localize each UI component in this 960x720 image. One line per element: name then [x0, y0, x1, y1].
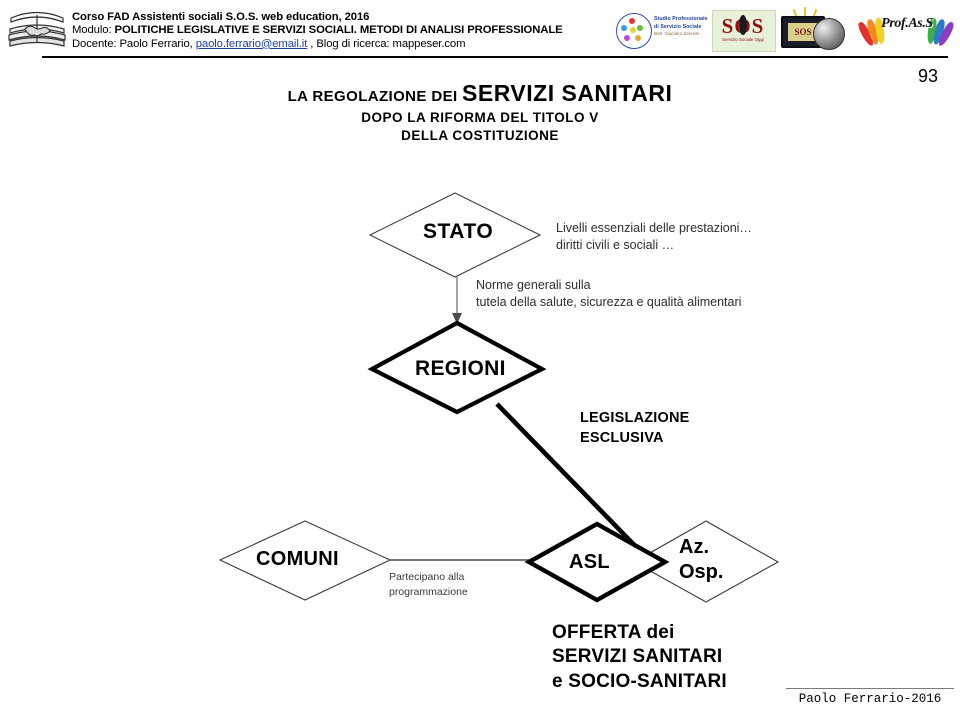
- partecipano-line-1: Partecipano alla: [389, 571, 464, 583]
- annotation-legislazione-esclusiva: LEGISLAZIONE ESCLUSIVA: [580, 408, 690, 448]
- node-label-comuni: COMUNI: [256, 548, 339, 571]
- node-label-asl: ASL: [569, 551, 610, 574]
- offerta-line-2: SERVIZI SANITARI: [552, 646, 722, 667]
- annotation-livelli-essenziali: Livelli essenziali delle prestazioni… di…: [556, 220, 752, 254]
- norme-line-1: Norme generali sulla: [476, 278, 591, 292]
- azosp-label-line-1: Az.: [679, 536, 709, 558]
- norme-line-2: tutela della salute, sicurezza e qualità…: [476, 295, 741, 309]
- legislazione-line-1: LEGISLAZIONE: [580, 410, 690, 426]
- livelli-line-2: diritti civili e sociali …: [556, 238, 674, 252]
- legislazione-line-2: ESCLUSIVA: [580, 430, 664, 446]
- slide-canvas: Corso FAD Assistenti sociali S.O.S. web …: [0, 0, 960, 720]
- node-label-azienda-ospedaliera: Az. Osp.: [679, 535, 723, 585]
- slide-footer: Paolo Ferrario-2016: [786, 688, 954, 706]
- offerta-line-3: e SOCIO-SANITARI: [552, 671, 727, 692]
- azosp-label-line-2: Osp.: [679, 561, 723, 583]
- livelli-line-1: Livelli essenziali delle prestazioni…: [556, 221, 752, 235]
- annotation-offerta-servizi: OFFERTA dei SERVIZI SANITARI e SOCIO-SAN…: [552, 621, 727, 694]
- annotation-partecipano-programmazione: Partecipano alla programmazione: [389, 570, 468, 599]
- node-label-stato: STATO: [423, 220, 493, 244]
- partecipano-line-2: programmazione: [389, 586, 468, 598]
- footer-author-text: Paolo Ferrario-2016: [786, 692, 954, 706]
- offerta-line-1: OFFERTA dei: [552, 622, 675, 643]
- annotation-norme-generali: Norme generali sulla tutela della salute…: [476, 277, 741, 311]
- regulation-flow-diagram: STATO REGIONI COMUNI ASL Az. Osp. Livell…: [0, 0, 960, 720]
- node-label-regioni: REGIONI: [415, 357, 506, 381]
